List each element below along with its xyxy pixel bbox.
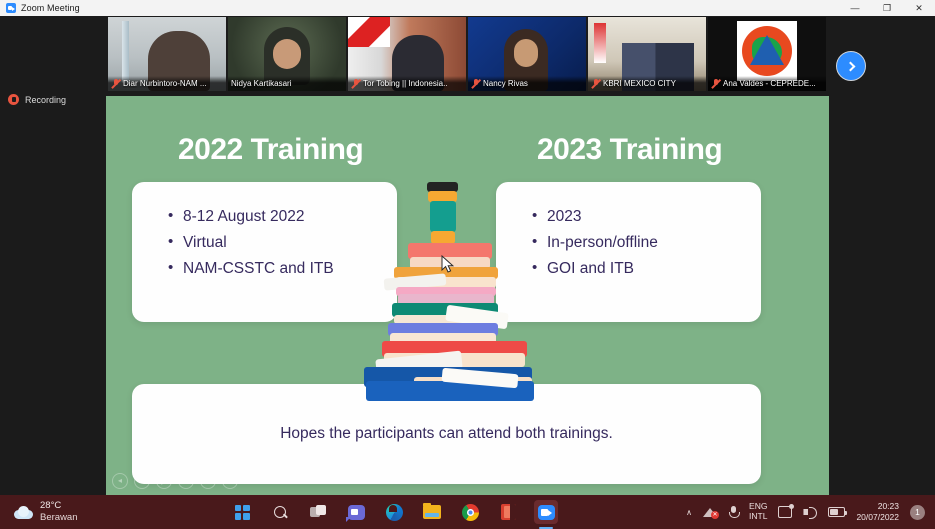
close-button[interactable]: ✕ (903, 0, 935, 16)
presenter-toolbar[interactable]: ◂ ▸ ╱ ⌸ ⌕ … (112, 473, 238, 489)
participant-tile[interactable]: Nancy Rivas (468, 17, 586, 91)
google-chrome-button[interactable] (458, 500, 482, 524)
zoom-icon (538, 505, 555, 520)
microphone-icon[interactable] (729, 506, 738, 519)
filmstrip-next-page-button[interactable] (836, 51, 866, 81)
participant-name: Diar Nurbintoro-NAM ... (123, 79, 207, 88)
participant-tile[interactable]: Diar Nurbintoro-NAM ... (108, 17, 226, 91)
previous-slide-icon[interactable]: ◂ (112, 473, 128, 489)
restore-button[interactable]: ❐ (871, 0, 903, 16)
participant-name: KBRI MEXICO CITY (603, 79, 676, 88)
mic-muted-icon (591, 78, 600, 89)
show-hidden-icons-button[interactable]: ∧ (686, 508, 692, 517)
zoom-meeting-window: Recording Diar Nurbintoro-NAM ... Nidya … (0, 16, 935, 495)
start-button[interactable] (230, 500, 254, 524)
participant-name: Nancy Rivas (483, 79, 528, 88)
participant-name-bar: KBRI MEXICO CITY (588, 76, 706, 91)
windows-taskbar: 28°C Berawan ∧ (0, 495, 935, 529)
network-error-badge: ✕ (711, 511, 719, 519)
globe-icon (742, 26, 792, 76)
teams-icon (348, 505, 365, 520)
battery-icon[interactable] (828, 507, 845, 517)
participant-filmstrip[interactable]: Diar Nurbintoro-NAM ... Nidya Kartikasar… (108, 17, 826, 91)
tray-time: 20:23 (878, 501, 899, 511)
pen-tool-icon[interactable]: ╱ (156, 473, 172, 489)
next-slide-icon[interactable]: ▸ (134, 473, 150, 489)
mic-muted-icon (711, 78, 720, 89)
microsoft-teams-button[interactable] (344, 500, 368, 524)
chrome-icon (462, 504, 479, 521)
participant-name-bar: Nancy Rivas (468, 76, 586, 91)
recording-indicator: Recording (8, 94, 66, 105)
weather-text: 28°C Berawan (40, 500, 78, 523)
folder-icon (423, 505, 441, 519)
participant-name: Ana Valdes - CEPREDE... (723, 79, 816, 88)
cepredenac-logo (737, 21, 797, 81)
display-cast-icon[interactable] (778, 506, 792, 518)
cloud-icon (14, 506, 33, 519)
clock[interactable]: 20:23 20/07/2022 (856, 501, 899, 522)
participant-name-bar: Diar Nurbintoro-NAM ... (108, 76, 226, 91)
speaker-icon[interactable] (803, 506, 817, 518)
bullet-list-2023: 2023 In-person/offline GOI and ITB (496, 182, 761, 278)
chevron-right-icon (845, 61, 855, 71)
participant-name: Tor Tobing || Indonesia.. (363, 79, 448, 88)
slide-title-2023: 2023 Training (537, 133, 722, 167)
search-button[interactable] (268, 500, 292, 524)
office-icon (501, 504, 516, 520)
language-line-2: INTL (749, 511, 767, 521)
title-bar-left: Zoom Meeting (0, 3, 839, 13)
task-view-button[interactable] (306, 500, 330, 524)
minimize-button[interactable]: — (839, 0, 871, 16)
all-slides-icon[interactable]: ⌸ (178, 473, 194, 489)
recording-label: Recording (25, 95, 66, 105)
zoom-taskbar-button[interactable] (534, 500, 558, 524)
more-options-icon[interactable]: … (222, 473, 238, 489)
list-item: In-person/offline (532, 234, 761, 252)
language-line-1: ENG (749, 501, 767, 511)
taskbar-app-icons (230, 500, 558, 524)
record-icon (8, 94, 19, 105)
tray-date: 20/07/2022 (856, 512, 899, 522)
list-item: 2023 (532, 208, 761, 226)
edge-icon (386, 504, 403, 521)
zoom-video-icon (6, 3, 16, 13)
task-view-icon (310, 505, 326, 519)
window-controls: — ❐ ✕ (839, 0, 935, 16)
list-item: Virtual (168, 234, 397, 252)
notification-badge[interactable]: 1 (910, 505, 925, 520)
weather-temperature: 28°C (40, 500, 78, 512)
network-disconnected-icon[interactable]: ✕ (703, 506, 718, 518)
language-indicator[interactable]: ENG INTL (749, 502, 767, 521)
card-closing-note: Hopes the participants can attend both t… (132, 384, 761, 484)
window-title-bar: Zoom Meeting — ❐ ✕ (0, 0, 935, 16)
participant-name-bar: Nidya Kartikasari (228, 76, 346, 91)
zoom-in-icon[interactable]: ⌕ (200, 473, 216, 489)
participant-tile[interactable]: Tor Tobing || Indonesia.. (348, 17, 466, 91)
file-explorer-button[interactable] (420, 500, 444, 524)
participant-name-bar: Tor Tobing || Indonesia.. (348, 76, 466, 91)
participant-name: Nidya Kartikasari (231, 79, 291, 88)
mic-muted-icon (471, 78, 480, 89)
card-2022-training: 8-12 August 2022 Virtual NAM-CSSTC and I… (132, 182, 397, 322)
mic-muted-icon (351, 78, 360, 89)
participant-tile[interactable]: Ana Valdes - CEPREDE... (708, 17, 826, 91)
list-item: NAM-CSSTC and ITB (168, 260, 397, 278)
shared-screen-slide[interactable]: 2022 Training 2023 Training 8-12 August … (106, 96, 829, 495)
list-item: 8-12 August 2022 (168, 208, 397, 226)
bullet-list-2022: 8-12 August 2022 Virtual NAM-CSSTC and I… (132, 182, 397, 278)
participant-tile[interactable]: Nidya Kartikasari (228, 17, 346, 91)
mic-muted-icon (111, 78, 120, 89)
slide-title-2022: 2022 Training (178, 133, 363, 167)
search-icon (273, 505, 288, 520)
list-item: GOI and ITB (532, 260, 761, 278)
weather-condition: Berawan (40, 512, 78, 524)
window-title: Zoom Meeting (21, 3, 80, 13)
weather-widget[interactable]: 28°C Berawan (0, 500, 230, 523)
closing-note-text: Hopes the participants can attend both t… (280, 425, 613, 443)
card-2023-training: 2023 In-person/offline GOI and ITB (496, 182, 761, 322)
system-tray: ∧ ✕ ENG INTL 20:23 20/07/2022 1 (686, 501, 935, 522)
participant-tile[interactable]: KBRI MEXICO CITY (588, 17, 706, 91)
windows-logo-icon (235, 505, 250, 520)
microsoft-edge-button[interactable] (382, 500, 406, 524)
participant-name-bar: Ana Valdes - CEPREDE... (708, 76, 826, 91)
microsoft-office-button[interactable] (496, 500, 520, 524)
